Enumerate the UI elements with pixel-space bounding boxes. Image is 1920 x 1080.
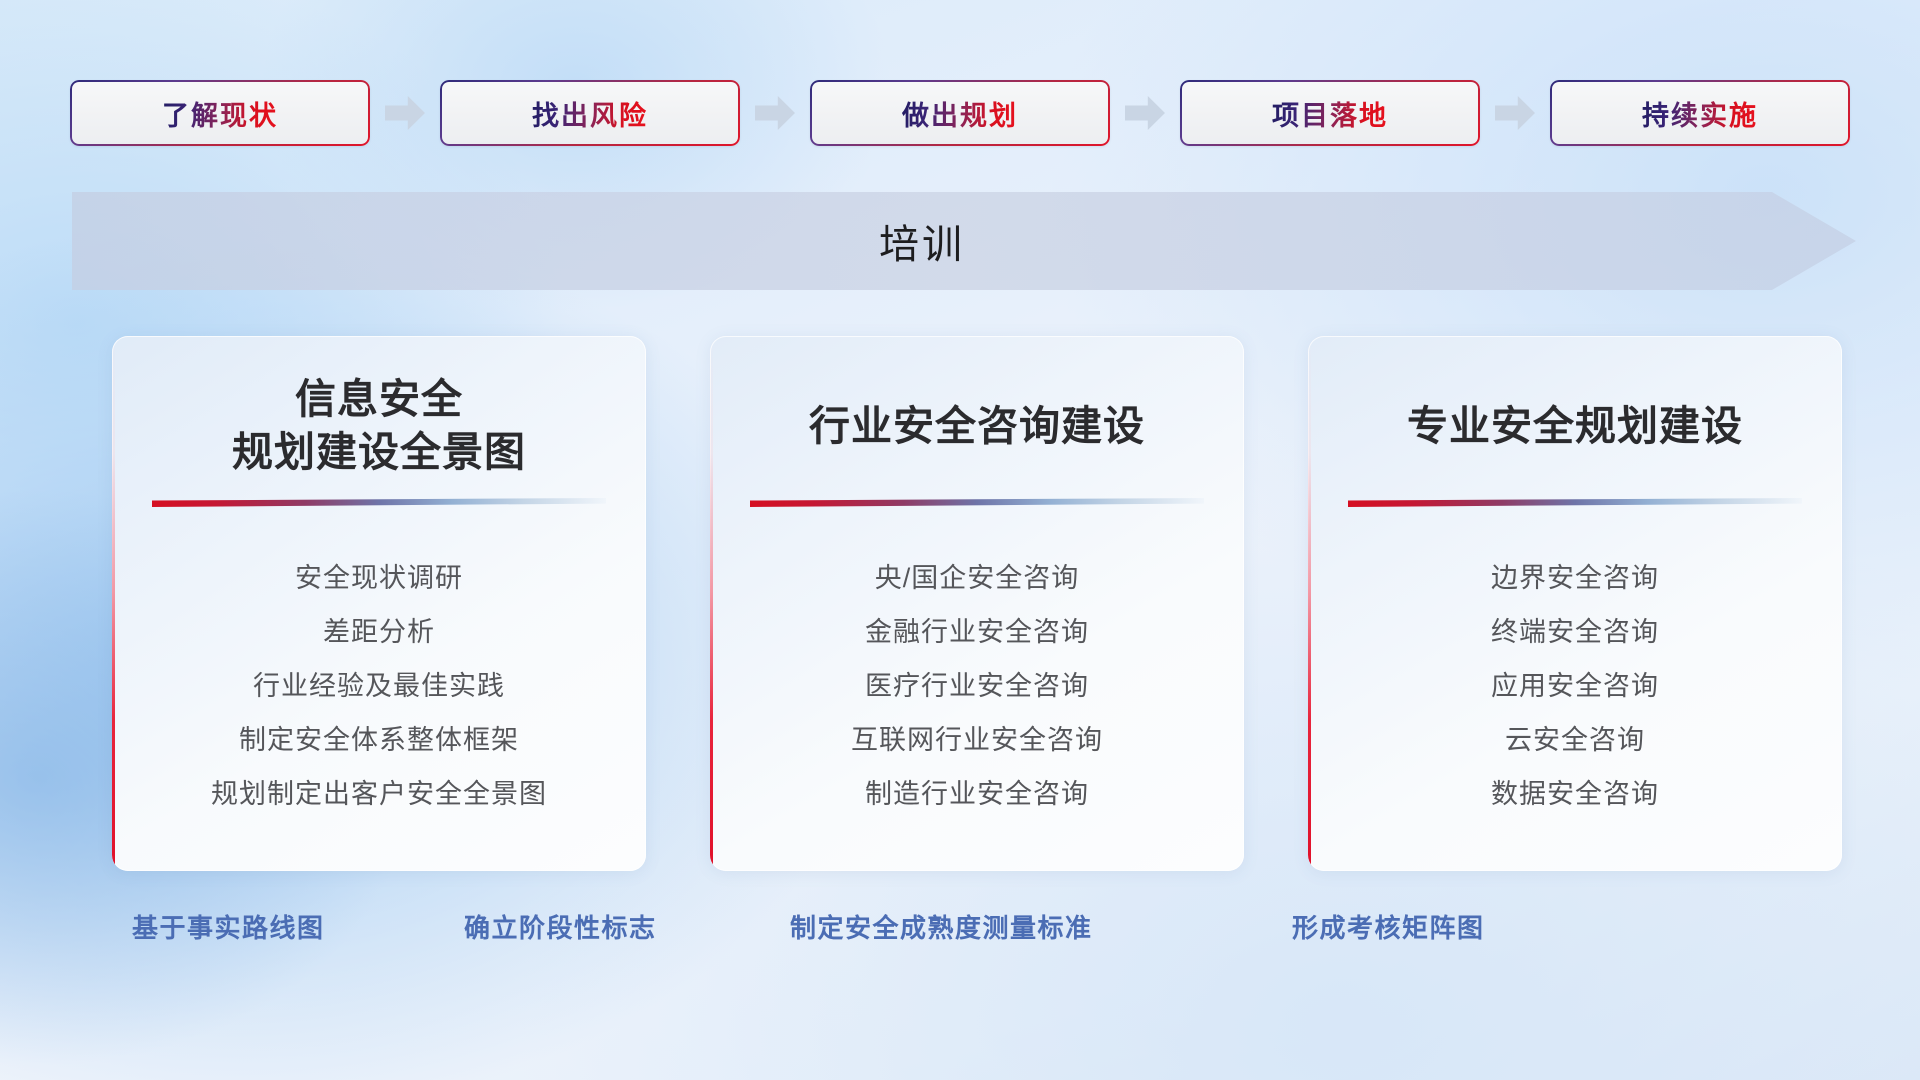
- footer-label-3: 形成考核矩阵图: [1292, 908, 1485, 945]
- step-label: 做出规划: [902, 94, 1018, 133]
- step-item-4[interactable]: 持续实施: [1550, 80, 1850, 146]
- card-item-list: 边界安全咨询 终端安全咨询 应用安全咨询 云安全咨询 数据安全咨询: [1348, 551, 1802, 821]
- card-0[interactable]: 信息安全 规划建设全景图 安全现状调研 差距分析 行业经验及最佳实践 制定安全体…: [112, 336, 646, 871]
- step-label: 了解现状: [162, 94, 278, 133]
- list-item: 云安全咨询: [1505, 713, 1645, 767]
- card-item-list: 央/国企安全咨询 金融行业安全咨询 医疗行业安全咨询 互联网行业安全咨询 制造行…: [750, 551, 1204, 821]
- step-item-0[interactable]: 了解现状: [70, 80, 370, 146]
- arrow-right-icon: [740, 80, 810, 146]
- list-item: 安全现状调研: [295, 551, 463, 605]
- footer-label-1: 确立阶段性标志: [464, 908, 657, 945]
- list-item: 医疗行业安全咨询: [865, 659, 1089, 713]
- training-banner: 培训: [72, 192, 1856, 290]
- step-label: 项目落地: [1272, 94, 1388, 133]
- list-item: 终端安全咨询: [1491, 605, 1659, 659]
- banner-label: 培训: [879, 212, 965, 270]
- step-item-2[interactable]: 做出规划: [810, 80, 1110, 146]
- card-title: 行业安全咨询建设: [809, 372, 1145, 480]
- card-item-list: 安全现状调研 差距分析 行业经验及最佳实践 制定安全体系整体框架 规划制定出客户…: [152, 551, 606, 821]
- list-item: 数据安全咨询: [1491, 767, 1659, 821]
- footer-label-2: 制定安全成熟度测量标准: [790, 908, 1093, 945]
- list-item: 制定安全体系整体框架: [239, 713, 519, 767]
- step-label: 持续实施: [1642, 94, 1758, 133]
- arrow-right-icon: [370, 80, 440, 146]
- card-title-line: 信息安全: [232, 373, 526, 426]
- list-item: 应用安全咨询: [1491, 659, 1659, 713]
- list-item: 边界安全咨询: [1491, 551, 1659, 605]
- list-item: 行业经验及最佳实践: [253, 659, 505, 713]
- list-item: 规划制定出客户安全全景图: [211, 767, 547, 821]
- arrow-right-icon: [1110, 80, 1180, 146]
- arrow-right-icon: [1480, 80, 1550, 146]
- step-item-3[interactable]: 项目落地: [1180, 80, 1480, 146]
- card-group: 信息安全 规划建设全景图 安全现状调研 差距分析 行业经验及最佳实践 制定安全体…: [112, 336, 1852, 871]
- process-step-bar: 了解现状 找出风险 做出规划 项目落地 持续实施: [70, 78, 1850, 148]
- list-item: 互联网行业安全咨询: [851, 713, 1103, 767]
- card-title-line: 行业安全咨询建设: [809, 400, 1145, 452]
- card-title: 信息安全 规划建设全景图: [232, 372, 526, 480]
- list-item: 金融行业安全咨询: [865, 605, 1089, 659]
- step-item-1[interactable]: 找出风险: [440, 80, 740, 146]
- card-divider: [750, 498, 1204, 507]
- card-1[interactable]: 行业安全咨询建设 央/国企安全咨询 金融行业安全咨询 医疗行业安全咨询 互联网行…: [710, 336, 1244, 871]
- step-label: 找出风险: [532, 94, 648, 133]
- card-divider: [1348, 498, 1802, 507]
- list-item: 差距分析: [323, 605, 435, 659]
- card-title: 专业安全规划建设: [1407, 372, 1743, 480]
- card-divider: [152, 498, 606, 507]
- card-2[interactable]: 专业安全规划建设 边界安全咨询 终端安全咨询 应用安全咨询 云安全咨询 数据安全…: [1308, 336, 1842, 871]
- footer-label-0: 基于事实路线图: [132, 908, 325, 945]
- list-item: 制造行业安全咨询: [865, 767, 1089, 821]
- card-title-line: 规划建设全景图: [232, 426, 526, 479]
- footer-label-row: 基于事实路线图 确立阶段性标志 制定安全成熟度测量标准 形成考核矩阵图: [0, 908, 1920, 968]
- card-title-line: 专业安全规划建设: [1407, 400, 1743, 452]
- list-item: 央/国企安全咨询: [875, 551, 1080, 605]
